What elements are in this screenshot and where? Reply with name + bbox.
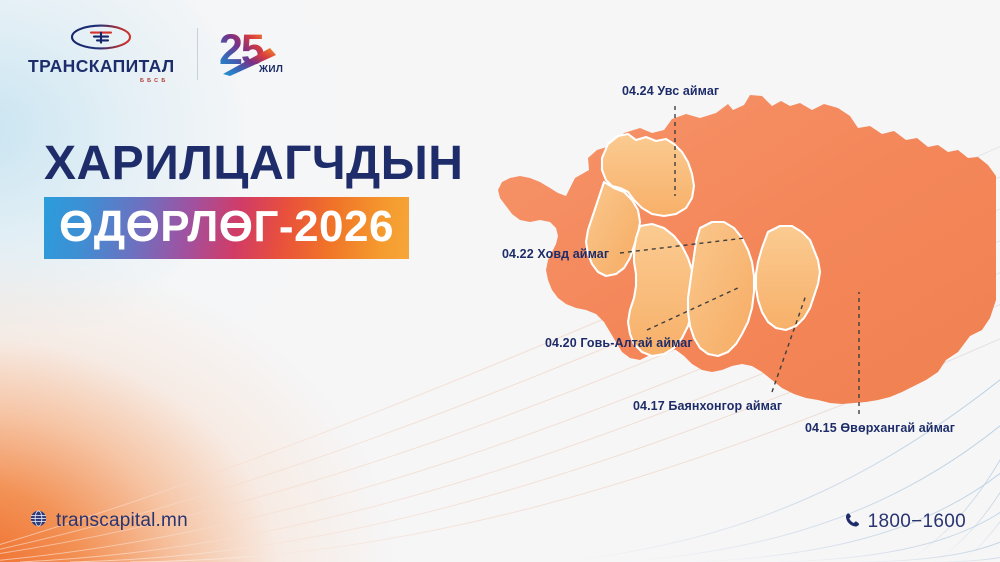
phone-contact[interactable]: 1800−1600 (845, 511, 966, 533)
globe-icon (30, 510, 47, 532)
company-name: ТРАНСКАПИТАЛ (28, 58, 175, 76)
25-years-badge-icon: 25 ЖИЛ (218, 24, 284, 78)
website-text: transcapital.mn (56, 510, 188, 532)
map-label-khovd[interactable]: 04.22 Ховд аймаг (502, 247, 609, 261)
poster-title: ХАРИЛЦАГЧДЫН ӨДӨРЛӨГ-2026 (44, 140, 463, 259)
phone-icon (845, 512, 861, 533)
mongolia-map (0, 0, 1000, 562)
website-link[interactable]: transcapital.mn (30, 510, 188, 532)
map-label-uvs[interactable]: 04.24 Увс аймаг (622, 84, 719, 98)
title-line-1: ХАРИЛЦАГЧДЫН (44, 140, 463, 188)
poster-canvas: ТРАНСКАПИТАЛ ББСБ 25 ЖИЛ (0, 0, 1000, 562)
title-line-2: ӨДӨРЛӨГ-2026 (59, 205, 394, 249)
company-logo[interactable]: ТРАНСКАПИТАЛ ББСБ (28, 24, 175, 84)
brand-header: ТРАНСКАПИТАЛ ББСБ 25 ЖИЛ (28, 24, 284, 84)
header-divider (197, 28, 198, 80)
anniversary-badge: 25 ЖИЛ (218, 24, 284, 83)
phone-text: 1800−1600 (868, 511, 966, 533)
transcapital-oval-logo-icon (70, 24, 132, 55)
company-legal-form: ББСБ (140, 78, 175, 84)
map-label-govi-altai[interactable]: 04.20 Говь-Алтай аймаг (545, 336, 693, 350)
map-label-bayankhongor[interactable]: 04.17 Баянхонгор аймаг (633, 399, 782, 413)
svg-text:ЖИЛ: ЖИЛ (258, 64, 283, 75)
title-banner: ӨДӨРЛӨГ-2026 (44, 197, 409, 259)
map-label-uvurkhangai[interactable]: 04.15 Өвөрхангай аймаг (805, 421, 955, 435)
